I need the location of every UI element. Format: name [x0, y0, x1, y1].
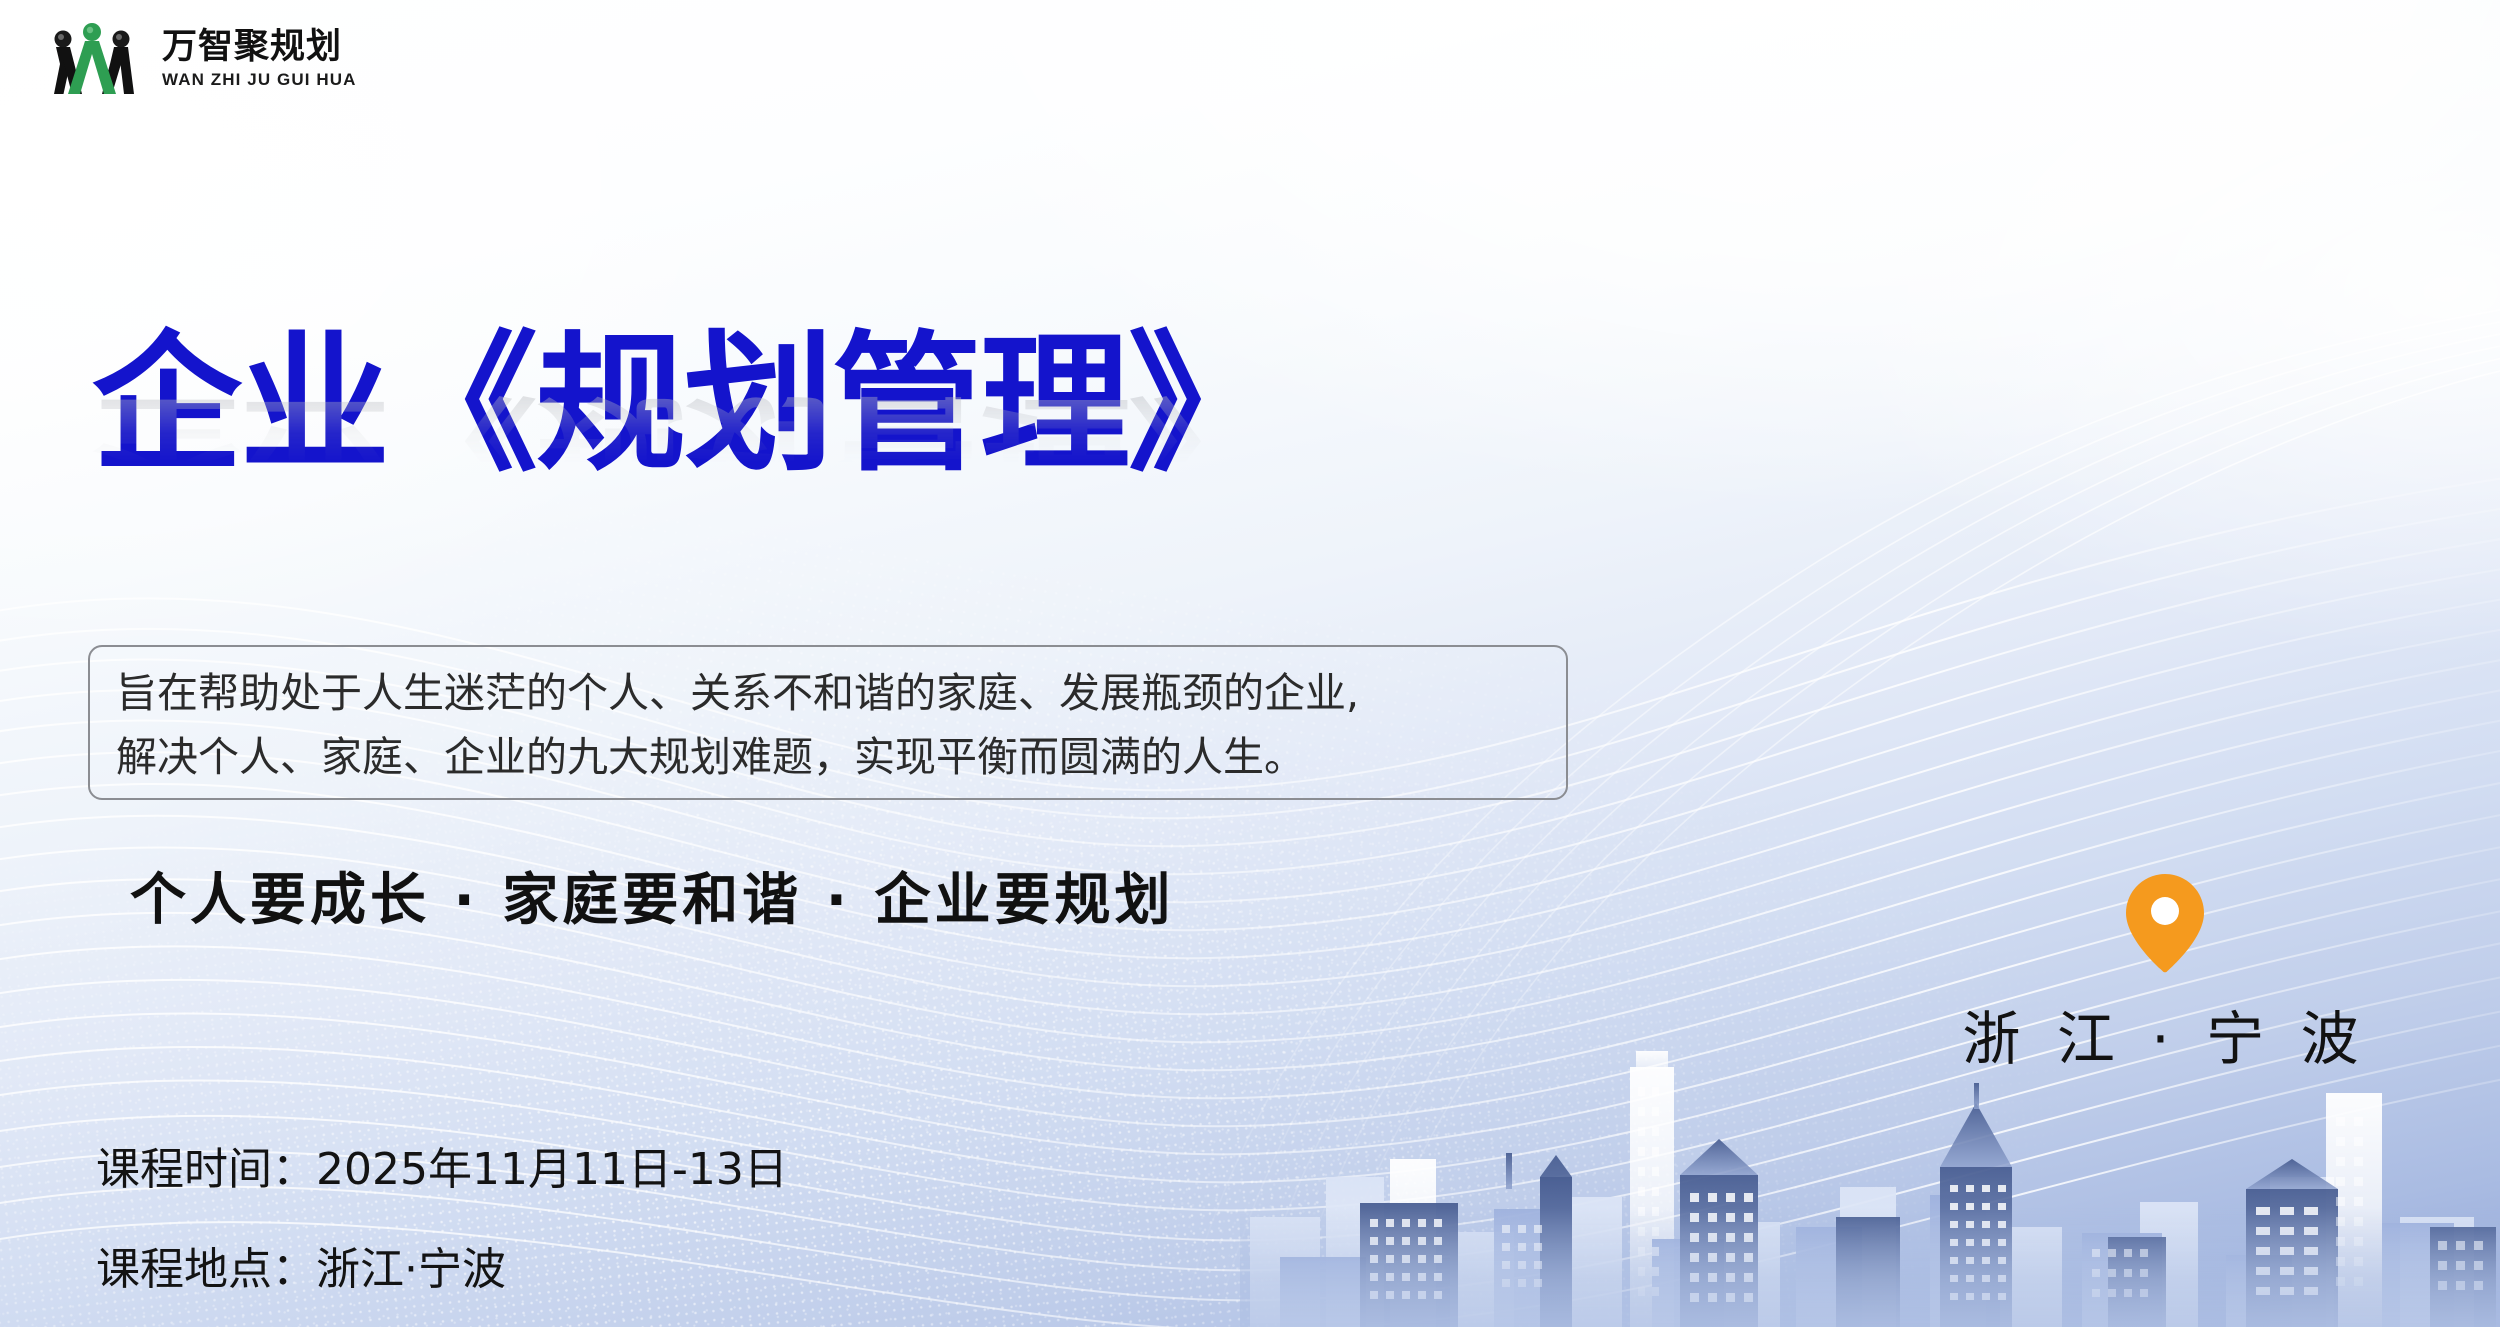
poster-canvas: 万智聚规划 WAN ZHI JU GUI HUA 企业《规划管理》 企业《规划管… — [0, 0, 2500, 1327]
brand-name-en: WAN ZHI JU GUI HUA — [162, 71, 357, 88]
description-line-2: 解决个人、家庭、企业的九大规划难题，实现平衡而圆满的人生。 — [116, 725, 1540, 789]
brand-name-cn: 万智聚规划 — [162, 29, 357, 64]
hero-title-block: 企业《规划管理》 企业《规划管理》 — [92, 330, 1276, 634]
page-title-reflection: 企业《规划管理》 — [92, 391, 1276, 484]
location-badge: 浙 江 · 宁 波 — [1955, 870, 2375, 1076]
description-line-1: 旨在帮助处于人生迷茫的个人、关系不和谐的家庭、发展瓶颈的企业, — [116, 661, 1540, 725]
map-pin-icon — [2119, 870, 2211, 974]
brand-logo[interactable]: 万智聚规划 WAN ZHI JU GUI HUA — [36, 16, 357, 100]
course-info-block: 课程时间：2025年11月11日-13日 课程地点：浙江·宁波 — [96, 1120, 788, 1320]
three-people-mountain-logo-icon — [36, 16, 148, 100]
description-box: 旨在帮助处于人生迷茫的个人、关系不和谐的家庭、发展瓶颈的企业, 解决个人、家庭、… — [88, 645, 1568, 800]
course-time: 课程时间：2025年11月11日-13日 — [96, 1120, 788, 1220]
course-place: 课程地点：浙江·宁波 — [96, 1220, 788, 1320]
tagline: 个人要成长 · 家庭要和谐 · 企业要规划 — [130, 855, 1175, 936]
location-label: 浙 江 · 宁 波 — [1962, 992, 2367, 1076]
